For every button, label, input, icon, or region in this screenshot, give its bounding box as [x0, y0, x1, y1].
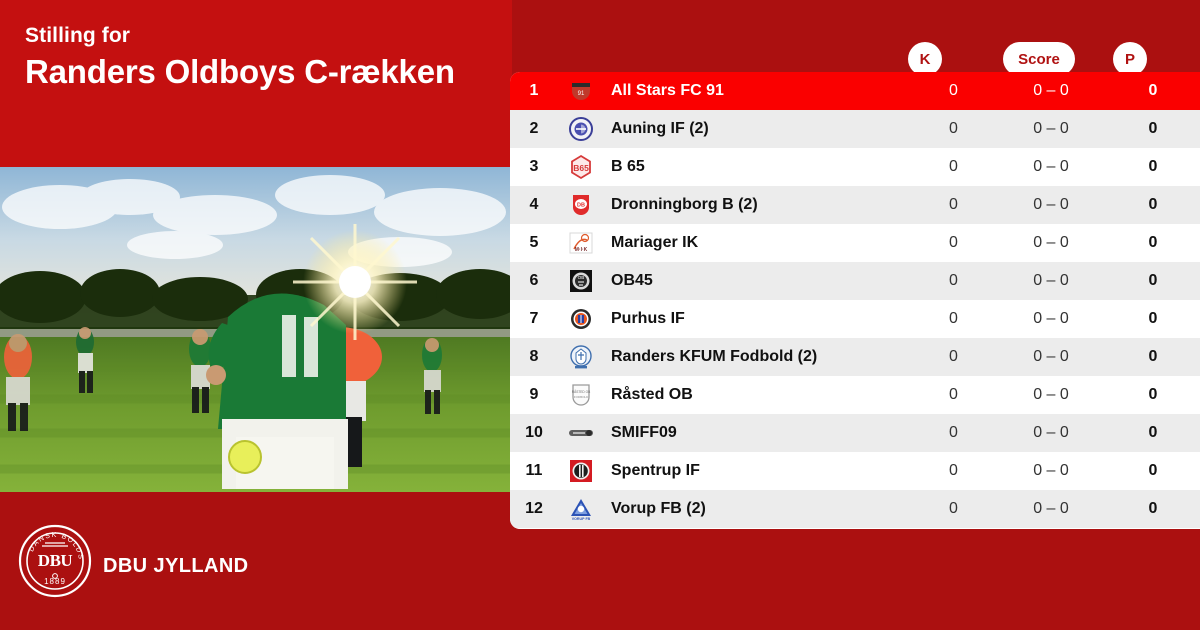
row-points: 0 [1106, 234, 1200, 252]
row-matches-played: 0 [911, 348, 996, 366]
vorup-fb-crest: VORUP FB [558, 496, 604, 522]
auning-if-crest [558, 116, 604, 142]
row-team-name[interactable]: Auning IF (2) [604, 120, 911, 138]
row-team-name[interactable]: B 65 [604, 158, 911, 176]
row-goal-score: 0 – 0 [996, 120, 1106, 138]
table-row[interactable]: 4DBDronningborg B (2)00 – 00 [510, 186, 1200, 224]
row-rank: 12 [510, 500, 558, 518]
match-photo [0, 167, 512, 492]
dbu-wordmark: DBU JYLLAND [103, 555, 249, 578]
svg-text:DB: DB [577, 203, 585, 209]
row-goal-score: 0 – 0 [996, 386, 1106, 404]
left-panel: Stilling for Randers Oldboys C-rækken [0, 0, 512, 630]
table-row[interactable]: 12VORUP FBVorup FB (2)00 – 00 [510, 490, 1200, 528]
row-points: 0 [1106, 462, 1200, 480]
row-points: 0 [1106, 386, 1200, 404]
dbu-logo-icon: DANSK BOLDSPIL UNION DBU 1889 [18, 524, 92, 598]
match-photo-illustration [0, 167, 512, 492]
row-rank: 1 [510, 82, 558, 100]
row-matches-played: 0 [911, 424, 996, 442]
standings-table[interactable]: 191All Stars FC 9100 – 002Auning IF (2)0… [510, 72, 1200, 529]
row-matches-played: 0 [911, 310, 996, 328]
table-row[interactable]: 10SMIFF0900 – 00 [510, 414, 1200, 452]
column-header-k: K [908, 42, 942, 76]
row-matches-played: 0 [911, 196, 996, 214]
row-matches-played: 0 [911, 234, 996, 252]
row-goal-score: 0 – 0 [996, 424, 1106, 442]
row-points: 0 [1106, 500, 1200, 518]
kicker-text: Stilling for [25, 24, 130, 48]
row-goal-score: 0 – 0 [996, 500, 1106, 518]
row-points: 0 [1106, 348, 1200, 366]
table-row[interactable]: 7Purhus IF00 – 00 [510, 300, 1200, 338]
row-matches-played: 0 [911, 462, 996, 480]
table-row[interactable]: 191All Stars FC 9100 – 00 [510, 72, 1200, 110]
row-goal-score: 0 – 0 [996, 272, 1106, 290]
row-rank: 9 [510, 386, 558, 404]
title-header-block: Stilling for Randers Oldboys C-rækken [0, 0, 512, 167]
column-header-score: Score [1003, 42, 1075, 76]
svg-text:M·I·K: M·I·K [575, 247, 588, 253]
row-team-name[interactable]: Purhus IF [604, 310, 911, 328]
row-goal-score: 0 – 0 [996, 462, 1106, 480]
footer-bar: DANSK BOLDSPIL UNION DBU 1889 DBU JYLLAN… [0, 492, 512, 630]
row-rank: 6 [510, 272, 558, 290]
column-header-p: P [1113, 42, 1147, 76]
svg-text:RÅSTED OB: RÅSTED OB [572, 389, 590, 394]
row-matches-played: 0 [911, 158, 996, 176]
row-rank: 2 [510, 120, 558, 138]
row-goal-score: 0 – 0 [996, 158, 1106, 176]
row-rank: 11 [510, 462, 558, 480]
row-points: 0 [1106, 120, 1200, 138]
table-row[interactable]: 3B65B 6500 – 00 [510, 148, 1200, 186]
row-matches-played: 0 [911, 272, 996, 290]
row-matches-played: 0 [911, 386, 996, 404]
svg-text:VORUP FB: VORUP FB [572, 517, 591, 521]
mariager-ik-crest: M·I·K [558, 230, 604, 256]
row-points: 0 [1106, 196, 1200, 214]
row-goal-score: 0 – 0 [996, 348, 1106, 366]
row-rank: 5 [510, 234, 558, 252]
row-team-name[interactable]: Mariager IK [604, 234, 911, 252]
row-team-name[interactable]: Råsted OB [604, 386, 911, 404]
row-team-name[interactable]: Dronningborg B (2) [604, 196, 911, 214]
row-team-name[interactable]: SMIFF09 [604, 424, 911, 442]
row-team-name[interactable]: Vorup FB (2) [604, 500, 911, 518]
randers-kfum-fodbold-crest [558, 344, 604, 370]
row-team-name[interactable]: All Stars FC 91 [604, 82, 911, 100]
row-points: 0 [1106, 158, 1200, 176]
spentrup-if-crest [558, 458, 604, 484]
svg-text:91: 91 [578, 91, 585, 97]
row-rank: 10 [510, 424, 558, 442]
table-row[interactable]: 2Auning IF (2)00 – 00 [510, 110, 1200, 148]
svg-text:OB: OB [578, 275, 585, 280]
raasted-ob-crest: RÅSTED OBFODBOLD [558, 382, 604, 408]
row-points: 0 [1106, 272, 1200, 290]
row-team-name[interactable]: OB45 [604, 272, 911, 290]
purhus-if-crest [558, 306, 604, 332]
row-team-name[interactable]: Randers KFUM Fodbold (2) [604, 348, 911, 366]
row-points: 0 [1106, 82, 1200, 100]
row-goal-score: 0 – 0 [996, 234, 1106, 252]
row-rank: 3 [510, 158, 558, 176]
svg-text:FODBOLD: FODBOLD [574, 395, 589, 399]
row-goal-score: 0 – 0 [996, 310, 1106, 328]
row-goal-score: 0 – 0 [996, 82, 1106, 100]
row-matches-played: 0 [911, 120, 996, 138]
row-rank: 8 [510, 348, 558, 366]
ob45-crest: OB [558, 268, 604, 294]
dronningborg-b-crest: DB [558, 192, 604, 218]
svg-text:B65: B65 [573, 163, 589, 173]
table-row[interactable]: 6OBOB4500 – 00 [510, 262, 1200, 300]
smiff09-crest [558, 420, 604, 446]
row-points: 0 [1106, 424, 1200, 442]
svg-text:DBU: DBU [38, 551, 73, 570]
row-points: 0 [1106, 310, 1200, 328]
b-65-crest: B65 [558, 154, 604, 180]
table-row[interactable]: 8Randers KFUM Fodbold (2)00 – 00 [510, 338, 1200, 376]
table-row[interactable]: 5M·I·KMariager IK00 – 00 [510, 224, 1200, 262]
row-team-name[interactable]: Spentrup IF [604, 462, 911, 480]
row-rank: 7 [510, 310, 558, 328]
row-matches-played: 0 [911, 82, 996, 100]
row-matches-played: 0 [911, 500, 996, 518]
row-goal-score: 0 – 0 [996, 196, 1106, 214]
page-title: Randers Oldboys C-rækken [25, 53, 455, 91]
all-stars-fc-91-crest: 91 [558, 78, 604, 104]
table-row[interactable]: 9RÅSTED OBFODBOLDRåsted OB00 – 00 [510, 376, 1200, 414]
row-rank: 4 [510, 196, 558, 214]
table-row[interactable]: 11Spentrup IF00 – 00 [510, 452, 1200, 490]
